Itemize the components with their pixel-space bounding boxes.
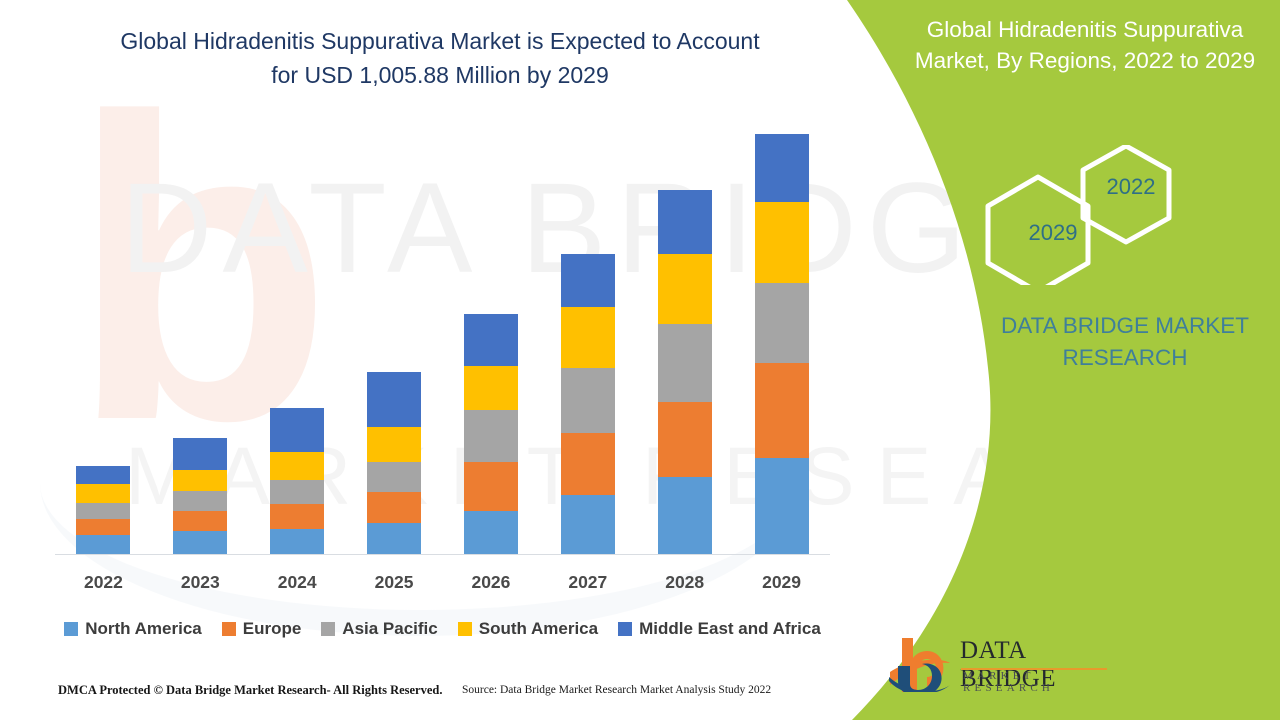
bar-column [540, 120, 636, 554]
x-axis-labels: 20222023202420252026202720282029 [55, 572, 830, 593]
bar-segment [367, 427, 421, 461]
hexagon-label-2029: 2029 [1013, 220, 1093, 246]
hexagon-badges [975, 145, 1195, 285]
legend-item[interactable]: Asia Pacific [321, 619, 437, 639]
bar-segment [270, 504, 324, 529]
bar-segment [464, 314, 518, 365]
bar-segment [270, 529, 324, 554]
legend-label: South America [479, 619, 598, 639]
bar-segment [76, 503, 130, 519]
stacked-bar [173, 438, 227, 554]
bar-segment [270, 480, 324, 504]
bar-segment [464, 462, 518, 511]
stacked-bar [367, 372, 421, 554]
data-bridge-logo: DATA BRIDGE MARKET RESEARCH [888, 634, 1118, 698]
panel-brand-line1: DATA BRIDGE MARKET [975, 310, 1275, 342]
bar-column [346, 120, 442, 554]
bar-segment [173, 491, 227, 510]
bar-segment [561, 433, 615, 495]
legend-label: North America [85, 619, 202, 639]
bar-segment [561, 495, 615, 554]
legend-item[interactable]: North America [64, 619, 202, 639]
stacked-bar [658, 190, 712, 554]
bar-segment [755, 363, 809, 458]
bar-segment [658, 190, 712, 254]
legend-swatch-icon [618, 622, 632, 636]
bar-segment [658, 477, 712, 554]
footer-source: Source: Data Bridge Market Research Mark… [462, 684, 771, 696]
bar-segment [270, 452, 324, 479]
stacked-bar [464, 314, 518, 554]
bar-segment [76, 519, 130, 535]
chart-title-line2: for USD 1,005.88 Million by 2029 [271, 62, 609, 88]
bar-segment [173, 531, 227, 554]
panel-brand-text: DATA BRIDGE MARKET RESEARCH [975, 310, 1275, 374]
bar-column [249, 120, 345, 554]
chart-legend: North AmericaEuropeAsia PacificSouth Ame… [55, 616, 830, 642]
footer-copyright: DMCA Protected © Data Bridge Market Rese… [58, 683, 443, 698]
x-axis-tick-label: 2028 [637, 572, 733, 593]
panel-title: Global Hidradenitis Suppurativa Market, … [900, 14, 1270, 76]
bar-segment [658, 254, 712, 325]
stacked-bar [76, 466, 130, 554]
bar-segment [367, 523, 421, 554]
bar-segment [76, 484, 130, 502]
bar-segment [173, 511, 227, 532]
bar-segment [367, 492, 421, 523]
legend-item[interactable]: South America [458, 619, 598, 639]
x-axis-tick-label: 2026 [443, 572, 539, 593]
bar-segment [367, 462, 421, 493]
bar-column [443, 120, 539, 554]
hexagon-label-2022: 2022 [1093, 174, 1169, 200]
panel-brand-line2: RESEARCH [975, 342, 1275, 374]
stacked-bar [561, 254, 615, 554]
infographic-canvas: b DATA BRIDGE MARKET RESEARCH Global Hid… [0, 0, 1280, 720]
bar-column [734, 120, 830, 554]
bar-segment [464, 511, 518, 554]
legend-item[interactable]: Middle East and Africa [618, 619, 821, 639]
x-axis-tick-label: 2023 [152, 572, 248, 593]
bar-segment [270, 408, 324, 453]
x-axis-tick-label: 2022 [55, 572, 151, 593]
legend-item[interactable]: Europe [222, 619, 302, 639]
bar-column [637, 120, 733, 554]
legend-swatch-icon [222, 622, 236, 636]
bar-segment [76, 466, 130, 484]
bar-segment [755, 458, 809, 554]
stacked-bar [270, 408, 324, 554]
logo-b-mark-icon [888, 636, 950, 692]
bar-segment [658, 402, 712, 477]
x-axis-tick-label: 2029 [734, 572, 830, 593]
bar-segment [755, 283, 809, 363]
bar-segment [755, 134, 809, 203]
chart-title: Global Hidradenitis Suppurativa Market i… [60, 24, 820, 92]
x-axis-tick-label: 2027 [540, 572, 636, 593]
bar-column [152, 120, 248, 554]
bar-segment [173, 470, 227, 492]
legend-label: Asia Pacific [342, 619, 437, 639]
bar-segment [76, 535, 130, 554]
stacked-bar [755, 134, 809, 554]
bar-segment [658, 324, 712, 402]
legend-label: Europe [243, 619, 302, 639]
bar-segment [561, 368, 615, 433]
bar-column [55, 120, 151, 554]
x-axis-line [55, 554, 830, 555]
bar-segment [367, 372, 421, 427]
bar-segment [173, 438, 227, 470]
legend-label: Middle East and Africa [639, 619, 821, 639]
logo-sub-text: MARKET RESEARCH [963, 670, 1118, 694]
bar-segment [755, 202, 809, 283]
x-axis-tick-label: 2024 [249, 572, 345, 593]
bar-segment [561, 307, 615, 368]
legend-swatch-icon [321, 622, 335, 636]
bar-segment [464, 366, 518, 411]
legend-swatch-icon [458, 622, 472, 636]
bar-segment [561, 254, 615, 308]
chart-title-line1: Global Hidradenitis Suppurativa Market i… [120, 28, 759, 54]
stacked-bar-plot [55, 120, 830, 554]
legend-swatch-icon [64, 622, 78, 636]
x-axis-tick-label: 2025 [346, 572, 442, 593]
bar-segment [464, 410, 518, 461]
